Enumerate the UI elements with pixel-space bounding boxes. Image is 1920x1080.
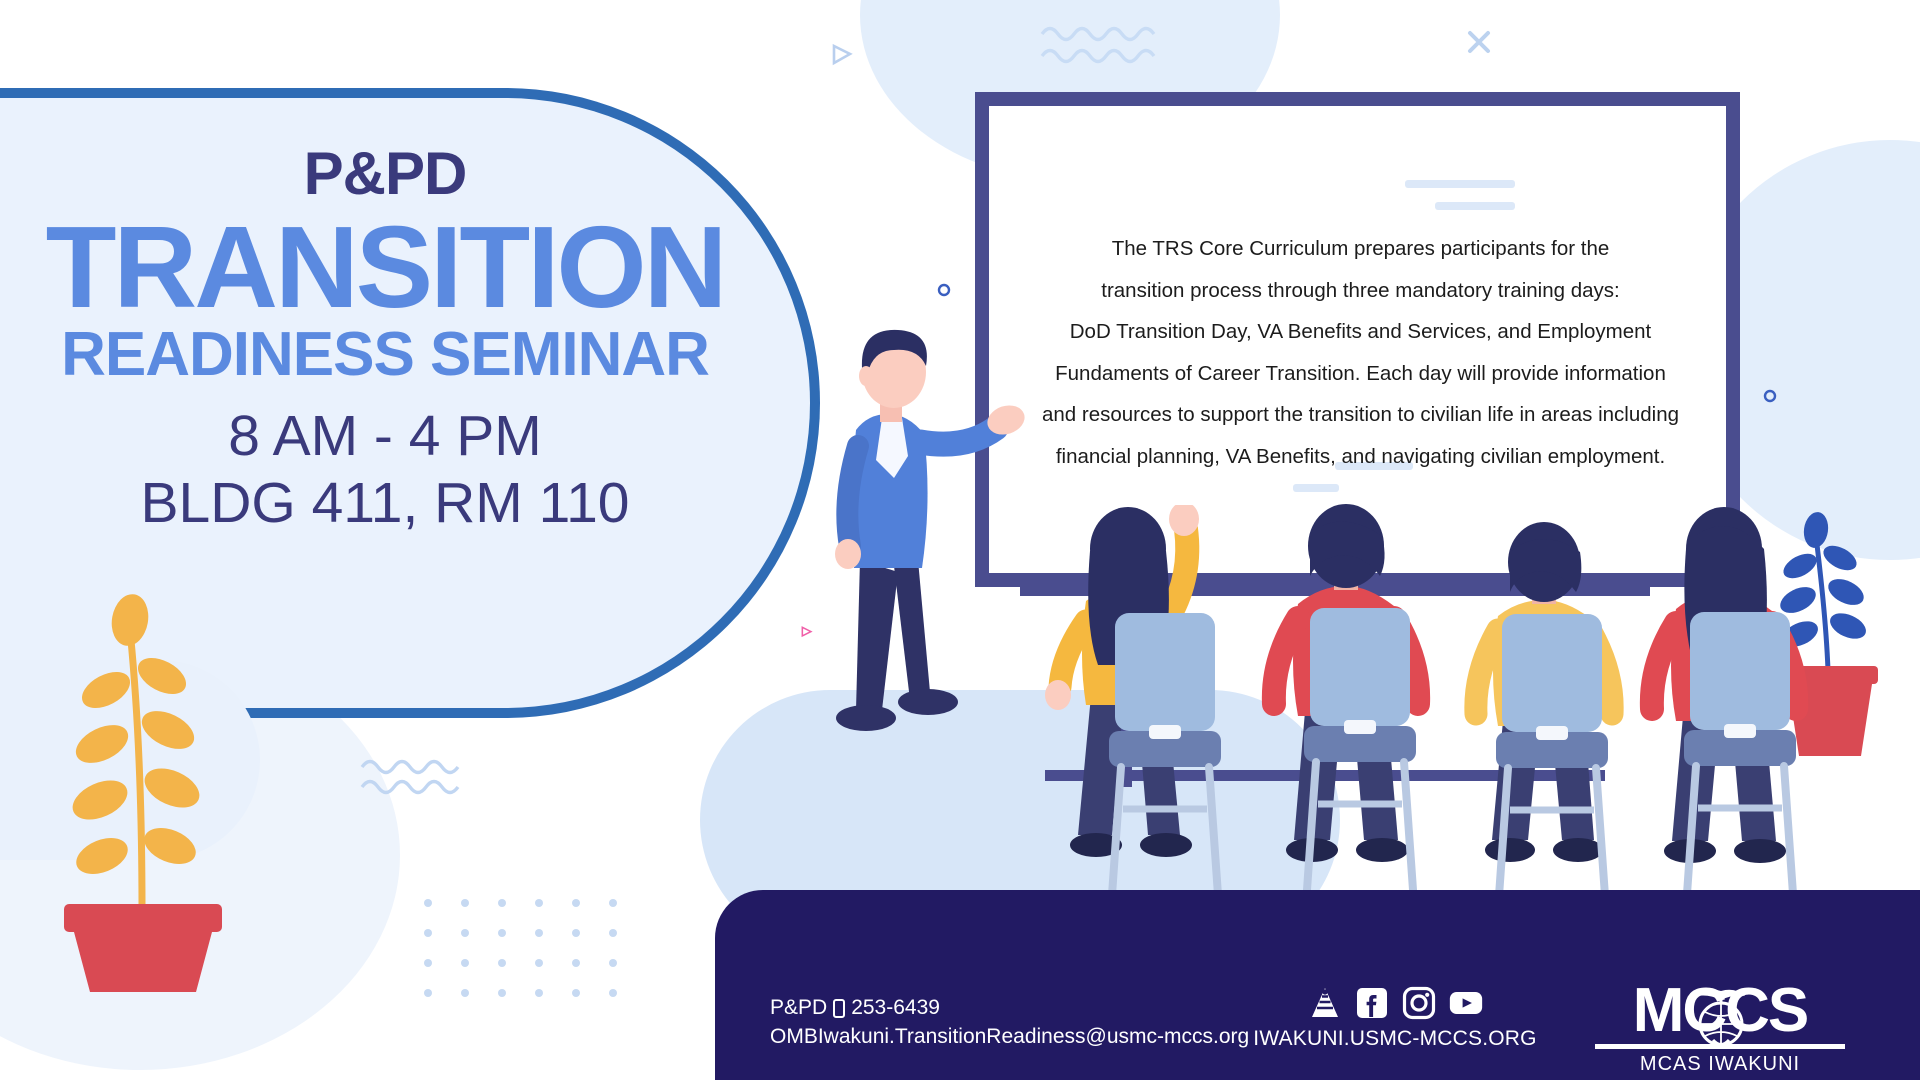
trident-icon[interactable] [1308,986,1342,1020]
contact-phone-number: 253-6439 [851,994,940,1023]
youtube-icon[interactable] [1449,986,1483,1020]
screen-text-line: financial planning, VA Benefits, and nav… [1035,436,1686,478]
bar-decoration-2 [1435,202,1515,210]
screen-text-line: DoD Transition Day, VA Benefits and Serv… [1035,311,1686,353]
mccs-tagline: MCAS IWAKUNI [1595,1053,1845,1076]
eagle-globe-anchor-icon [1683,980,1759,1052]
contact-phone-line: P&PD 253-6439 [770,994,1249,1023]
screen-body-text: The TRS Core Curriculum prepares partici… [1035,228,1686,478]
wave-squiggle-lower-icon [360,755,480,801]
chair-4 [1680,612,1800,922]
contact-block: P&PD 253-6439 OMBIwakuni.TransitionReadi… [770,994,1249,1052]
screen-text-line: The TRS Core Curriculum prepares partici… [1035,228,1686,270]
social-block: IWAKUNI.USMC-MCCS.ORG [1230,986,1560,1051]
triangle-outline-icon [830,42,856,68]
website-url[interactable]: IWAKUNI.USMC-MCCS.ORG [1230,1027,1560,1051]
circle-outline-icon [936,282,952,298]
phone-icon [833,999,845,1018]
poster-canvas: P&PD TRANSITION READINESS SEMINAR 8 AM -… [0,0,1920,1080]
contact-department-label: P&PD [770,994,827,1023]
wave-squiggle-top-icon [1040,20,1170,70]
page-title: TRANSITION [0,208,770,326]
screen-text-line: and resources to support the transition … [1035,394,1686,436]
chair-1 [1105,613,1225,923]
dot-grid-pattern [420,895,650,1015]
social-icon-row [1230,986,1560,1020]
bar-decoration-1 [1405,180,1515,188]
screen-text-line: transition process through three mandato… [1035,270,1686,312]
instagram-icon[interactable] [1402,986,1436,1020]
potted-plant-left [30,480,250,1000]
footer-bar: P&PD 253-6439 OMBIwakuni.TransitionReadi… [715,890,1920,1080]
chair-3 [1492,614,1612,924]
cross-mark-icon [1465,28,1493,56]
title-block: P&PD TRANSITION READINESS SEMINAR 8 AM -… [0,144,770,536]
circle-outline-right-icon [1762,388,1778,404]
event-time: 8 AM - 4 PM [0,403,770,470]
screen-text-line: Fundaments of Career Transition. Each da… [1035,353,1686,395]
contact-email[interactable]: OMBIwakuni.TransitionReadiness@usmc-mccs… [770,1023,1249,1052]
screen-surface: The TRS Core Curriculum prepares partici… [1005,122,1710,557]
presenter-illustration [790,310,1030,790]
mccs-logo: MCCS MCAS IWAKUNI [1595,982,1845,1076]
page-kicker: P&PD [0,144,770,204]
mccs-wordmark: MCCS [1595,982,1845,1041]
facebook-icon[interactable] [1355,986,1389,1020]
page-subtitle: READINESS SEMINAR [0,322,770,387]
chair-2 [1300,608,1420,918]
bar-decoration-4 [1293,484,1339,492]
